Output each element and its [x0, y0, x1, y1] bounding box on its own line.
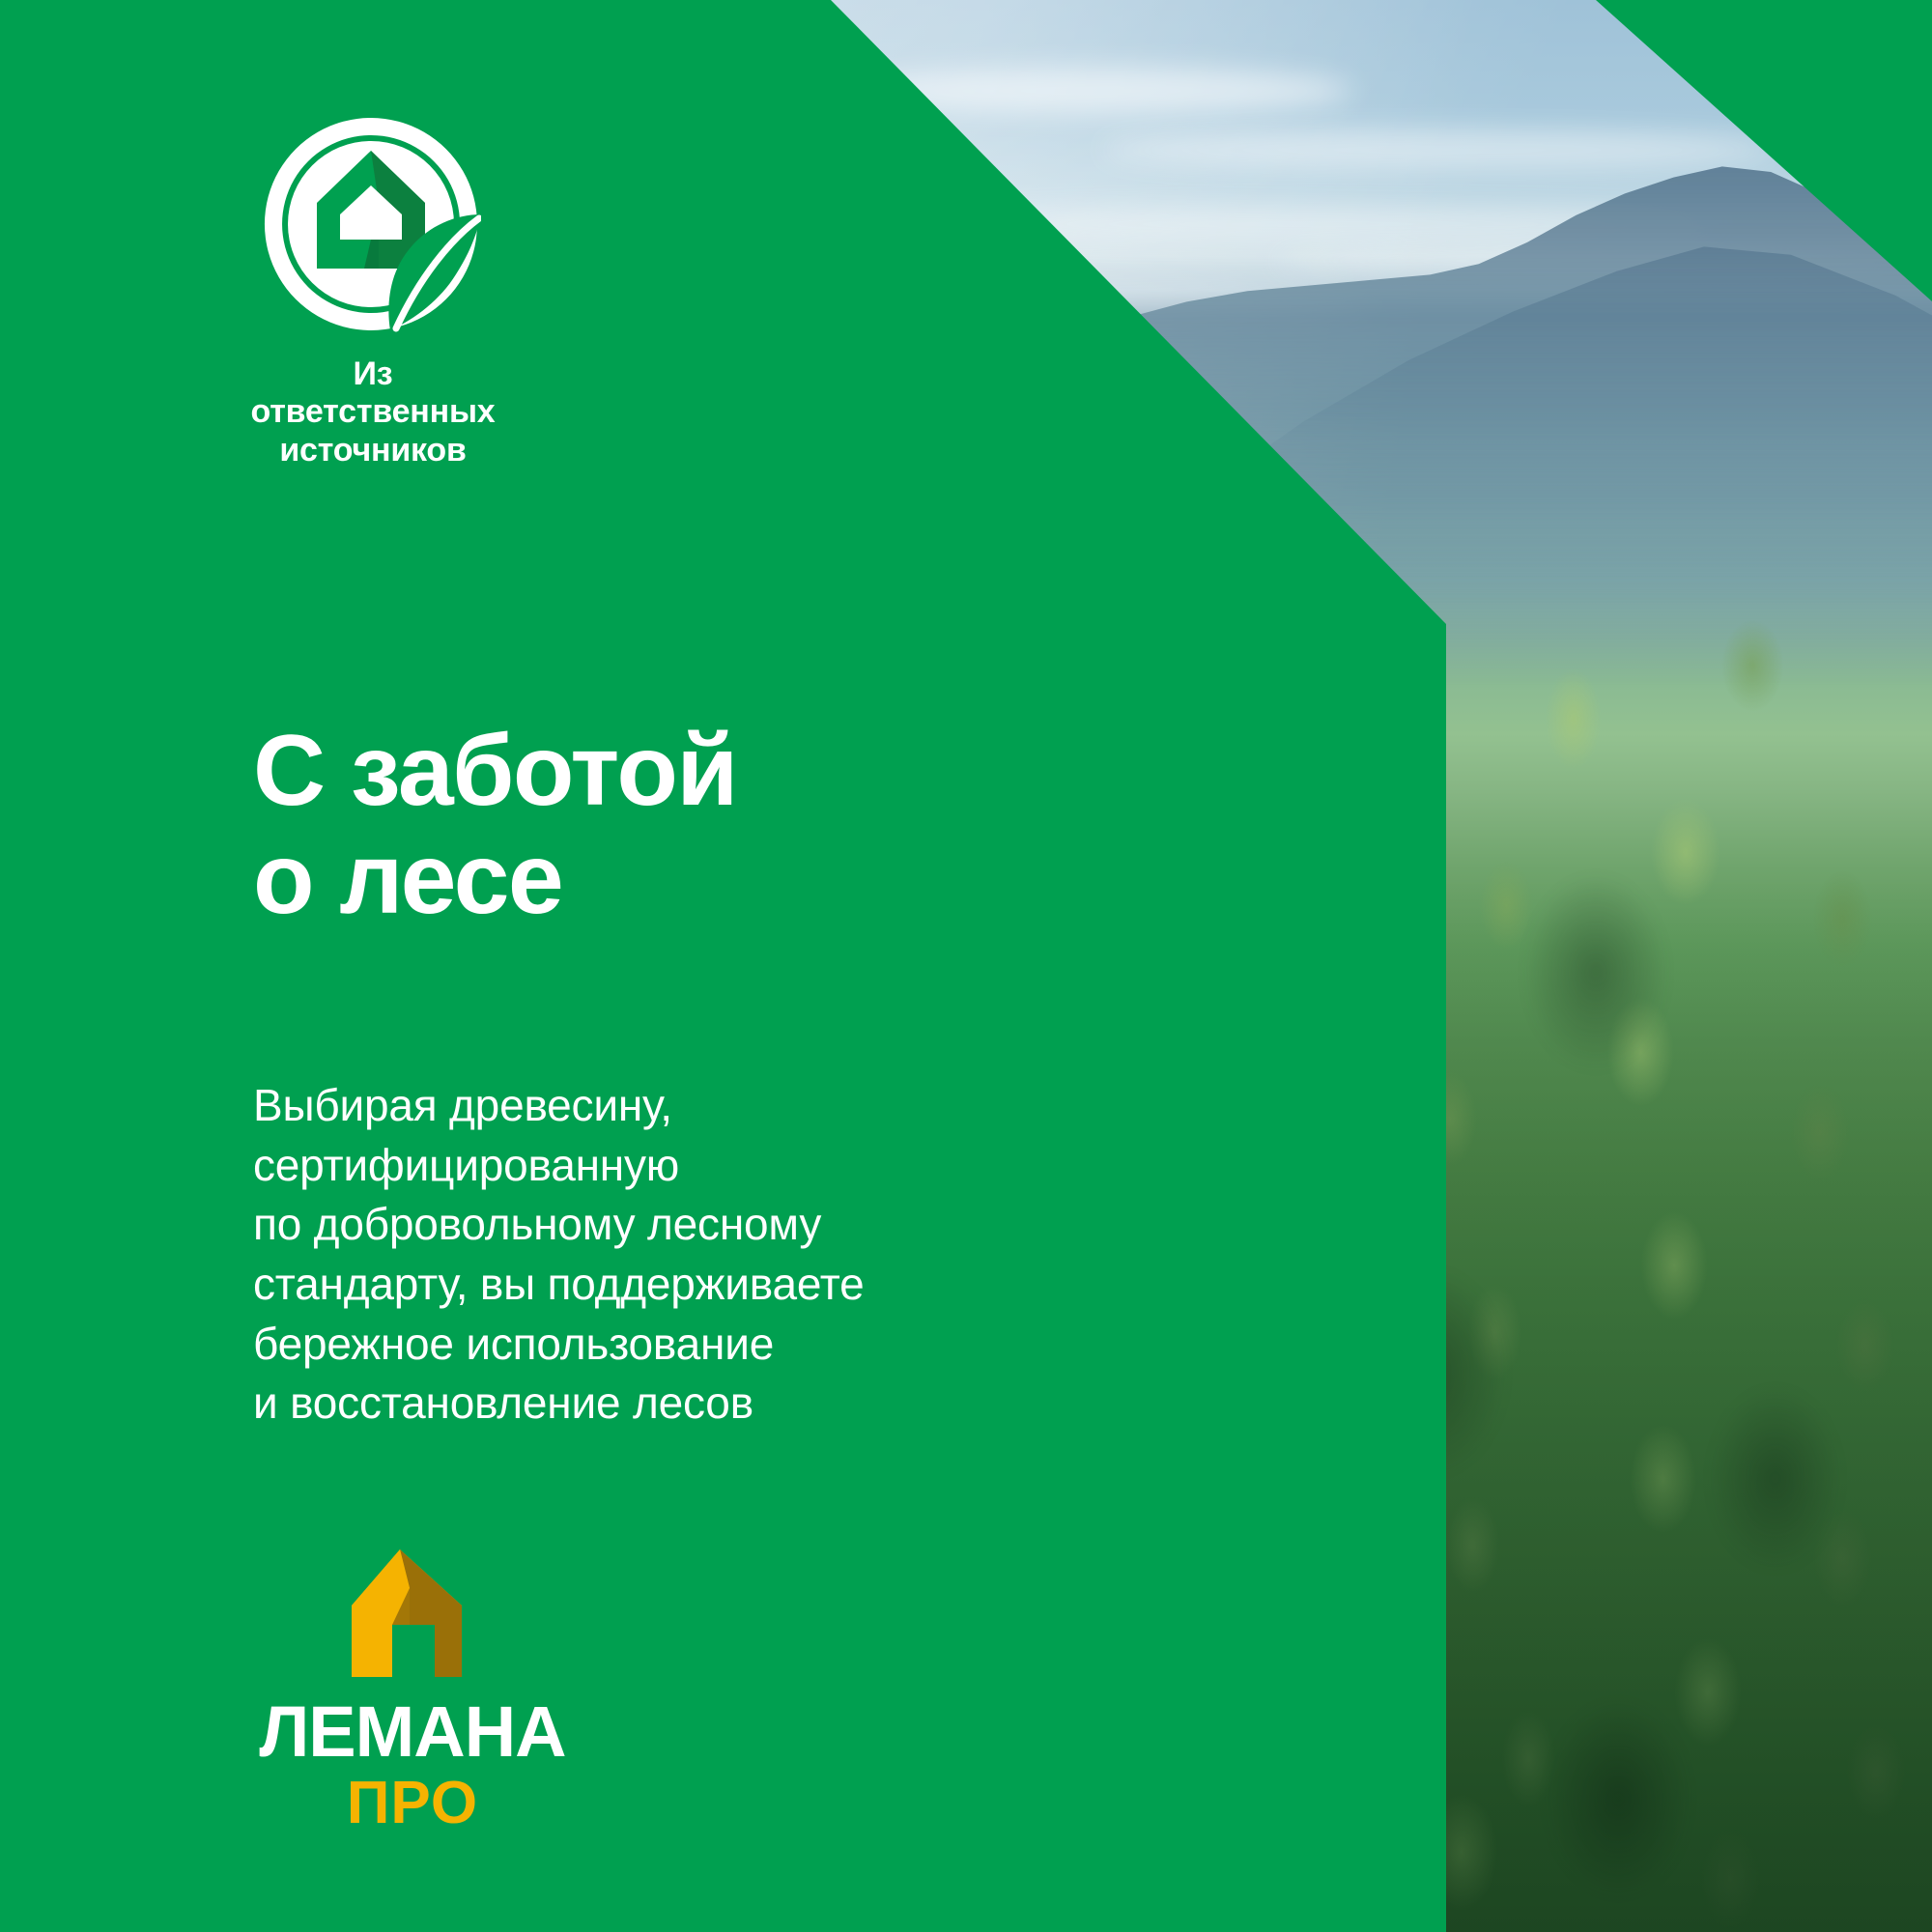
brand-logo: ЛЕМАНА ПРО — [253, 1546, 620, 1833]
eco-badge-caption: Из ответственных источников — [228, 355, 518, 469]
brand-name-label: ЛЕМАНА — [253, 1696, 572, 1768]
body-paragraph: Выбирая древесину, сертифицированную по … — [253, 1076, 864, 1434]
lemana-pro-house-icon — [334, 1546, 466, 1681]
promotional-poster: Из ответственных источников С заботой о … — [0, 0, 1932, 1932]
brand-sub-label: ПРО — [253, 1774, 572, 1833]
eco-certification-badge: Из ответственных источников — [253, 114, 504, 469]
house-in-circle-with-leaf-eco-icon — [261, 114, 481, 334]
page-title: С заботой о лесе — [253, 717, 737, 934]
poster-content: Из ответственных источников С заботой о … — [0, 0, 1932, 1932]
